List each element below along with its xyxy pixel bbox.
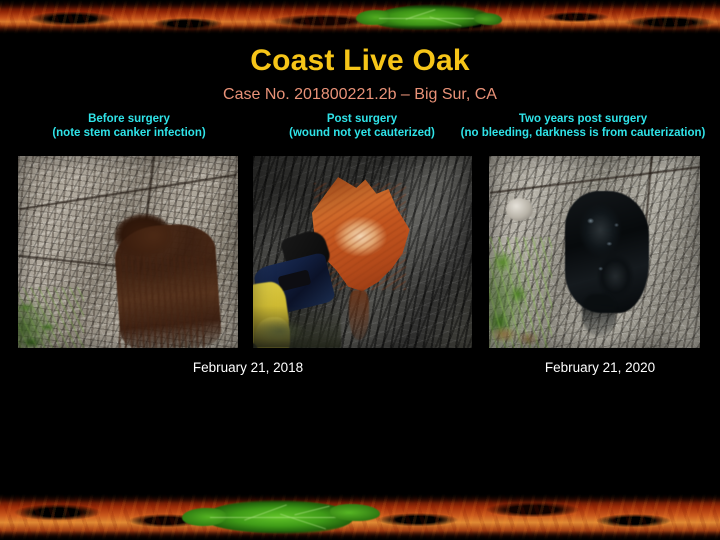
bottom-decorative-border xyxy=(0,494,720,540)
ground-foliage-2 xyxy=(253,306,341,348)
photo-captions-row: Before surgery (note stem canker infecti… xyxy=(0,112,720,152)
top-band-fade xyxy=(0,0,720,9)
bottom-band-fade-upper xyxy=(0,494,720,503)
caption-1-line2: (note stem canker infection) xyxy=(18,126,240,140)
date-label-after: February 21, 2020 xyxy=(470,360,720,375)
caption-before-surgery: Before surgery (note stem canker infecti… xyxy=(18,112,240,140)
top-decorative-border xyxy=(0,0,720,34)
slide-subtitle: Case No. 201800221.2b – Big Sur, CA xyxy=(0,86,720,104)
cauterized-wound-tail xyxy=(582,294,616,336)
photo-two-years-post-surgery xyxy=(489,156,700,348)
cauterized-wound-sheen xyxy=(569,198,641,302)
caption-3-line2: (no bleeding, darkness is from cauteriza… xyxy=(452,126,714,140)
photo-before-surgery xyxy=(18,156,238,348)
slide-title: Coast Live Oak xyxy=(0,44,720,78)
canker-drip-streaks xyxy=(119,256,207,348)
caption-3-line1: Two years post surgery xyxy=(519,113,647,125)
leaf-veins-bottom xyxy=(204,500,354,534)
caption-two-years-post-surgery: Two years post surgery (no bleeding, dar… xyxy=(452,112,714,140)
bottom-band-fade xyxy=(0,531,720,540)
top-band-fade-lower xyxy=(0,25,720,34)
caption-2-line2: (wound not yet cauterized) xyxy=(250,126,474,140)
photo-post-surgery xyxy=(253,156,472,348)
caption-2-line1: Post surgery xyxy=(327,113,397,125)
ground-foliage-1 xyxy=(18,287,84,348)
ground-leaf-litter-3 xyxy=(489,317,548,348)
date-label-before: February 21, 2018 xyxy=(118,360,378,375)
caption-1-line1: Before surgery xyxy=(88,113,170,125)
presentation-slide: Coast Live Oak Case No. 201800221.2b – B… xyxy=(0,0,720,540)
caption-post-surgery: Post surgery (wound not yet cauterized) xyxy=(250,112,474,140)
oak-leaf-icon-bottom xyxy=(204,500,354,534)
